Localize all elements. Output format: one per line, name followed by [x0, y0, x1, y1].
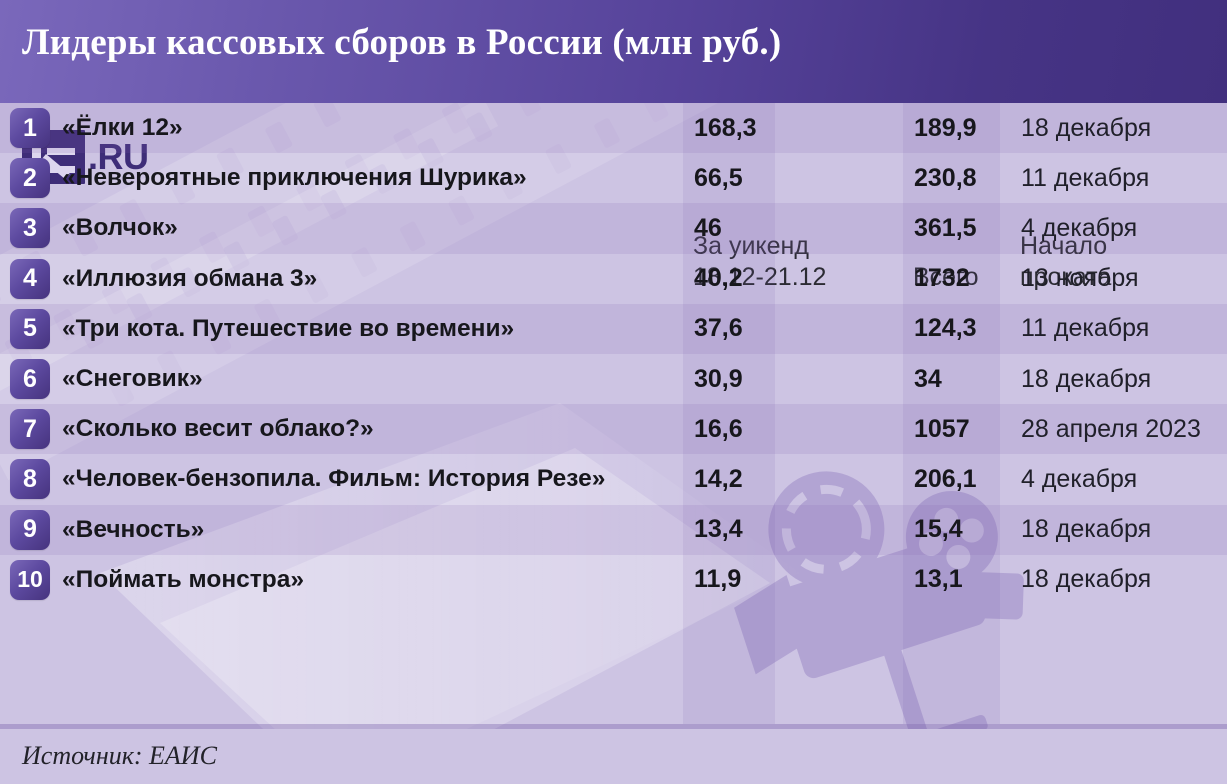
- table-row: 3«Волчок»46361,54 декабря: [0, 203, 1227, 253]
- release-date: 4 декабря: [1021, 465, 1137, 494]
- total-gross: 189,9: [914, 114, 977, 143]
- weekend-gross: 168,3: [694, 114, 757, 143]
- weekend-gross: 66,5: [694, 164, 743, 193]
- release-date: 18 декабря: [1021, 365, 1151, 394]
- total-gross: 13,1: [914, 565, 963, 594]
- movie-title: «Поймать монстра»: [62, 566, 672, 594]
- rank-badge: 4: [10, 259, 50, 299]
- total-gross: 361,5: [914, 214, 977, 243]
- rank-badge: 9: [10, 510, 50, 550]
- table-row: 2«Невероятные приключения Шурика»66,5230…: [0, 153, 1227, 203]
- total-gross: 124,3: [914, 314, 977, 343]
- total-gross: 1057: [914, 415, 970, 444]
- table-row: 4«Иллюзия обмана 3»40,2173213 ноября: [0, 254, 1227, 304]
- rank-badge: 1: [10, 108, 50, 148]
- table-row: 6«Снеговик»30,93418 декабря: [0, 354, 1227, 404]
- total-gross: 34: [914, 365, 942, 394]
- movie-title: «Вечность»: [62, 516, 672, 544]
- movie-title: «Невероятные приключения Шурика»: [62, 164, 672, 192]
- weekend-gross: 13,4: [694, 515, 743, 544]
- page-title: Лидеры кассовых сборов в России (млн руб…: [22, 21, 781, 64]
- table-row: 1«Ёлки 12»168,3189,918 декабря: [0, 103, 1227, 153]
- total-gross: 1732: [914, 264, 970, 293]
- source-label: Источник: ЕАИС: [22, 741, 217, 771]
- movie-title: «Волчок»: [62, 214, 672, 242]
- rank-badge: 10: [10, 560, 50, 600]
- table-sheet: .RU За уикенд 18.12-21.12 Всего Начало п…: [0, 103, 1227, 724]
- release-date: 13 ноября: [1021, 264, 1138, 293]
- total-gross: 15,4: [914, 515, 963, 544]
- rank-badge: 5: [10, 309, 50, 349]
- table-row: 8«Человек-бензопила. Фильм: История Резе…: [0, 454, 1227, 504]
- total-gross: 206,1: [914, 465, 977, 494]
- weekend-gross: 37,6: [694, 314, 743, 343]
- rank-badge: 6: [10, 359, 50, 399]
- release-date: 18 декабря: [1021, 114, 1151, 143]
- movie-title: «Человек-бензопила. Фильм: История Резе»: [62, 465, 672, 493]
- total-gross: 230,8: [914, 164, 977, 193]
- page-footer: Источник: ЕАИС: [0, 729, 1227, 784]
- table-row: 9«Вечность»13,415,418 декабря: [0, 505, 1227, 555]
- weekend-gross: 16,6: [694, 415, 743, 444]
- movie-title: «Три кота. Путешествие во времени»: [62, 315, 672, 343]
- table-row: 7«Сколько весит облако?»16,6105728 апрел…: [0, 404, 1227, 454]
- weekend-gross: 11,9: [694, 565, 741, 594]
- release-date: 18 декабря: [1021, 565, 1151, 594]
- weekend-gross: 40,2: [694, 264, 743, 293]
- weekend-gross: 46: [694, 214, 722, 243]
- table-body: 1«Ёлки 12»168,3189,918 декабря2«Невероят…: [0, 103, 1227, 605]
- rank-badge: 8: [10, 459, 50, 499]
- movie-title: «Иллюзия обмана 3»: [62, 265, 672, 293]
- table-row: 10«Поймать монстра»11,913,118 декабря: [0, 555, 1227, 605]
- rank-badge: 2: [10, 158, 50, 198]
- movie-title: «Ёлки 12»: [62, 114, 672, 142]
- table-row: 5«Три кота. Путешествие во времени»37,61…: [0, 304, 1227, 354]
- release-date: 18 декабря: [1021, 515, 1151, 544]
- rank-badge: 3: [10, 208, 50, 248]
- rank-badge: 7: [10, 409, 50, 449]
- release-date: 28 апреля 2023: [1021, 415, 1201, 444]
- weekend-gross: 30,9: [694, 365, 743, 394]
- page-header: Лидеры кассовых сборов в России (млн руб…: [0, 0, 1227, 103]
- release-date: 11 декабря: [1021, 164, 1149, 193]
- movie-title: «Сколько весит облако?»: [62, 415, 672, 443]
- weekend-gross: 14,2: [694, 465, 743, 494]
- infographic-page: Лидеры кассовых сборов в России (млн руб…: [0, 0, 1227, 784]
- movie-title: «Снеговик»: [62, 365, 672, 393]
- release-date: 4 декабря: [1021, 214, 1137, 243]
- release-date: 11 декабря: [1021, 314, 1149, 343]
